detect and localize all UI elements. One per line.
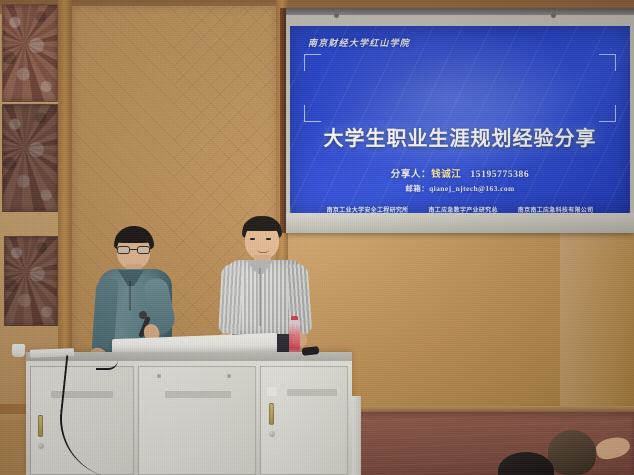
wall-right-sheen — [560, 232, 634, 412]
bracket-corner-top-right — [599, 54, 616, 71]
speaker-left-hair-fringe — [115, 231, 152, 243]
slide-contact-row-email: 邮箱：qianej_njtech@163.com — [290, 183, 630, 194]
screen-bottom-band — [286, 213, 634, 233]
glasses-lens-right — [137, 246, 150, 254]
slide-organization-list: 南京工业大学安全工程研究所 南工应急数字产业研究总 南京南工应急科技有限公司 — [290, 205, 630, 213]
slide-surface: 南京财经大学红山学院 大学生职业生涯规划经验分享 分享人：钱诚江 1519577… — [290, 26, 630, 213]
podium-handle-left — [38, 415, 43, 437]
granite-panel-lower-left — [2, 104, 58, 212]
bracket-corner-top-left — [304, 54, 321, 71]
bracket-corner-bottom-right — [599, 105, 616, 122]
speaker-left-placket — [129, 281, 131, 311]
podium-lock-right — [269, 431, 275, 437]
lecture-hall-photo: 南京财经大学红山学院 大学生职业生涯规划经验分享 分享人：钱诚江 1519577… — [0, 0, 634, 475]
glasses-bridge — [130, 249, 137, 250]
contact-label: 分享人： — [391, 170, 431, 180]
glasses-icon — [117, 246, 150, 254]
slide-institution-header: 南京财经大学红山学院 — [308, 36, 410, 49]
podium-tag-right — [267, 387, 277, 396]
podium-door-label-right — [287, 389, 337, 396]
slide-org-1: 南京工业大学安全工程研究所 — [327, 205, 409, 213]
podium-screw-center-right — [227, 374, 231, 378]
email-label: 邮箱： — [405, 184, 429, 193]
audience-head-1 — [548, 430, 596, 475]
email-value: qianej_njtech@163.com — [429, 184, 515, 193]
podium-door-label-center — [165, 391, 231, 398]
granite-panel-left-mid — [4, 236, 58, 326]
speaker-right-eye-left — [250, 238, 255, 240]
speaker-right-eye-right — [266, 238, 271, 240]
paper-cup — [12, 344, 25, 357]
podium-screw-center-left — [157, 374, 161, 378]
speaker-right-arm-left — [218, 263, 244, 336]
slide-org-3: 南京南工应急科技有限公司 — [518, 205, 594, 213]
slide-contact-row-presenter: 分享人：钱诚江 15195775386 — [290, 166, 630, 180]
speaker-right-placket — [259, 268, 261, 326]
podium-lock-left — [38, 443, 44, 449]
podium-door-center — [138, 366, 256, 475]
screen-bracket-left — [334, 13, 339, 18]
contact-phone: 15195775386 — [470, 170, 529, 180]
slide-contact-block: 分享人：钱诚江 15195775386 邮箱：qianej_njtech@163… — [290, 166, 630, 194]
slide-main-title: 大学生职业生涯规划经验分享 — [290, 122, 630, 151]
bracket-corner-bottom-left — [304, 105, 321, 122]
screen-bracket-right — [551, 13, 556, 18]
granite-panel-upper-left — [2, 4, 58, 102]
speaker-right-hair-fringe — [243, 220, 281, 231]
glasses-lens-left — [117, 246, 130, 254]
slide-title-bracket-frame — [304, 54, 616, 122]
contact-name: 钱诚江 — [431, 170, 461, 180]
podium-handle-right — [269, 403, 274, 425]
projection-screen: 南京财经大学红山学院 大学生职业生涯规划经验分享 分享人：钱诚江 1519577… — [286, 8, 634, 233]
podium-door-right — [260, 366, 348, 475]
slide-org-2: 南工应急数字产业研究总 — [428, 205, 497, 213]
stage-side-pillar — [352, 396, 361, 475]
water-bottle — [289, 320, 300, 356]
